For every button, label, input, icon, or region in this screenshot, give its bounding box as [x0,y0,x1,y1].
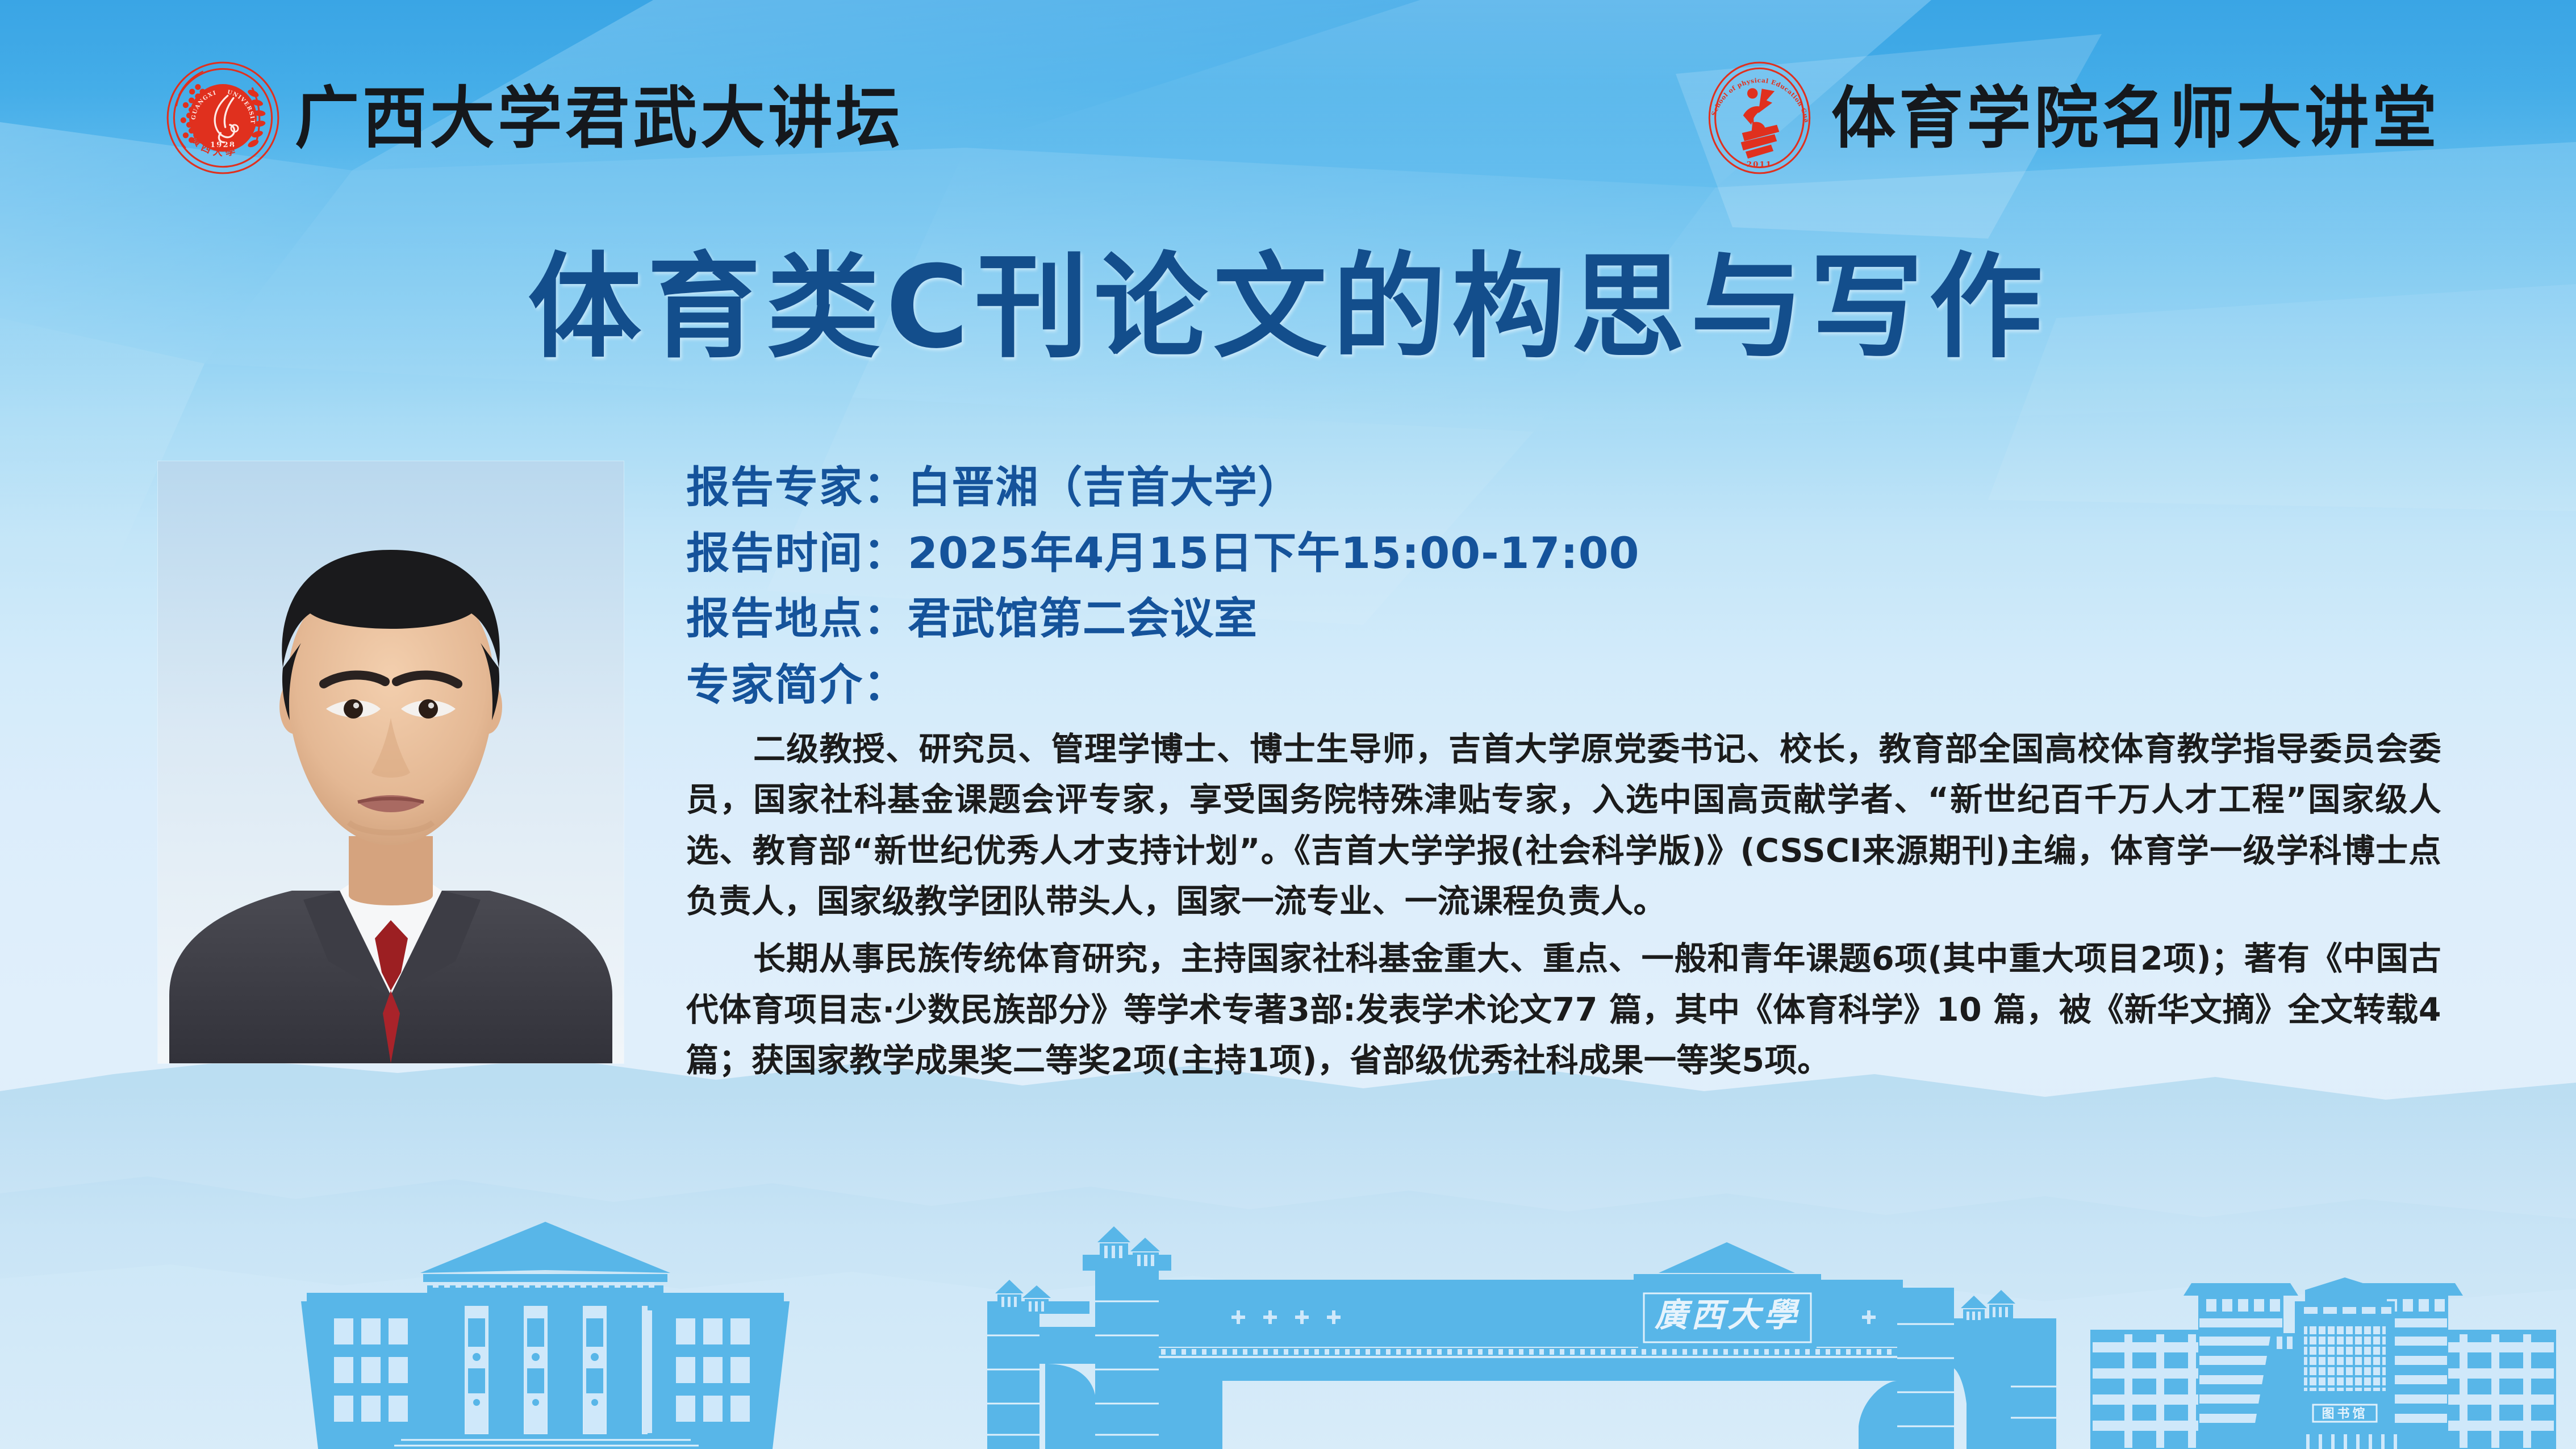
place-value: 君武馆第二会议室 [908,593,1258,644]
time-value: 2025年4月15日下午15:00-17:00 [908,528,1640,578]
speaker-label: 报告专家： [686,462,908,512]
brand-right-lecture: School of physical Education Guangxi Uni… [1701,60,2465,176]
event-info-block: 报告专家：白晋湘（吉首大学） 报告时间：2025年4月15日下午15:00-17… [686,454,2441,1087]
campus-silhouette-scene: 廣西大學 [0,1131,2576,1449]
gate-plaque-text: 廣西大學 [1654,1296,1800,1334]
classical-hall-silhouette [301,1222,790,1449]
speaker-portrait [158,461,624,1063]
seal-year-text: 2011 [1747,160,1772,169]
poster-root: 1928 GUANGXI UNIVERSITY 廣西大學 广西大学君武大讲坛 [0,0,2576,1449]
bio-heading: 专家简介： [686,653,2441,717]
lecture-title-right: 体育学院名师大讲堂 [1831,85,2440,152]
place-line: 报告地点：君武馆第二会议室 [686,586,2441,652]
guangxi-university-seal-icon: 1928 GUANGXI UNIVERSITY 廣西大學 [165,60,281,176]
library-plaque-text: 图书馆 [2322,1406,2368,1421]
speaker-value: 白晋湘（吉首大学） [908,462,1301,512]
time-label: 报告时间： [686,528,908,578]
university-gate-silhouette: 廣西大學 [987,1226,2056,1449]
bio-paragraph-2: 长期从事民族传统体育研究，主持国家社科基金重大、重点、一般和青年课题6项(其中重… [686,934,2441,1086]
brand-left-forum: 1928 GUANGXI UNIVERSITY 廣西大學 广西大学君武大讲坛 [165,60,929,176]
time-line: 报告时间：2025年4月15日下午15:00-17:00 [686,520,2441,586]
place-label: 报告地点： [686,593,908,644]
bio-paragraph-1: 二级教授、研究员、管理学博士、博士生导师，吉首大学原党委书记、校长，教育部全国高… [686,724,2441,928]
library-silhouette: 图书馆 [2090,1277,2556,1449]
page-title: 体育类C刊论文的构思与写作 [0,244,2576,371]
forum-title-left: 广西大学君武大讲坛 [295,85,903,152]
speaker-line: 报告专家：白晋湘（吉首大学） [686,454,2441,520]
poster-header: 1928 GUANGXI UNIVERSITY 廣西大學 广西大学君武大讲坛 [0,60,2576,182]
school-of-physical-education-seal-icon: School of physical Education Guangxi Uni… [1701,60,1818,176]
